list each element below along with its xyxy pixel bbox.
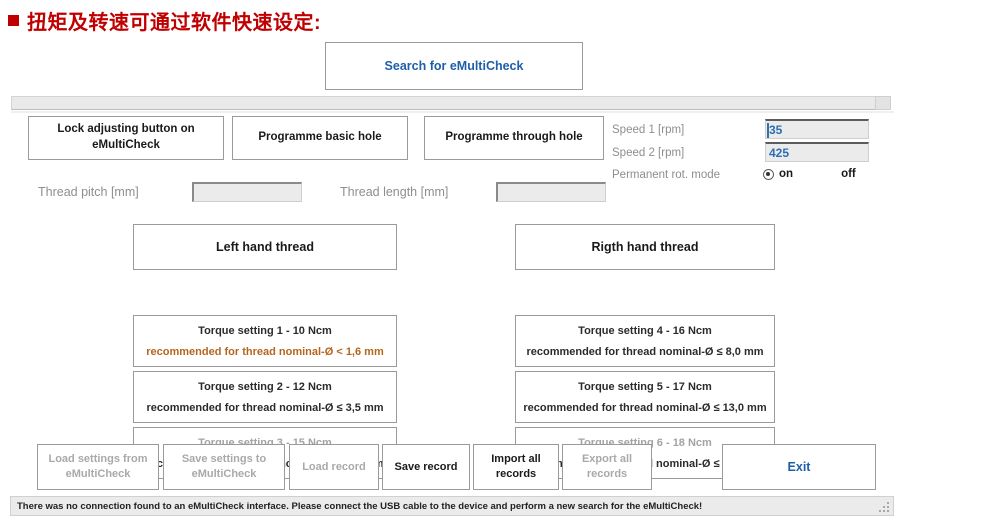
exit-button[interactable]: Exit — [722, 444, 876, 490]
programme-basic-hole-button[interactable]: Programme basic hole — [232, 116, 408, 160]
load-settings-from-emulticheck-button[interactable]: Load settings from eMultiCheck — [37, 444, 159, 490]
torque-setting-5-recommendation: recommended for thread nominal-Ø ≤ 13,0 … — [523, 402, 766, 414]
torque-setting-5-title: Torque setting 5 - 17 Ncm — [578, 381, 712, 393]
speed-1-value: 35 — [769, 123, 782, 137]
status-message: There was no connection found to an eMul… — [17, 501, 702, 512]
programme-through-hole-label: Programme through hole — [445, 130, 582, 146]
rot-mode-on-label: on — [779, 168, 793, 180]
screenshot-root: 扭矩及转速可通过软件快速设定: Search for eMultiCheck L… — [0, 0, 1000, 529]
torque-setting-1[interactable]: Torque setting 1 - 10 Ncm recommended fo… — [133, 315, 397, 367]
programme-through-hole-button[interactable]: Programme through hole — [424, 116, 604, 160]
torque-setting-2[interactable]: Torque setting 2 - 12 Ncm recommended fo… — [133, 371, 397, 423]
speed-2-label: Speed 2 [rpm] — [612, 147, 684, 159]
torque-setting-4-recommendation: recommended for thread nominal-Ø ≤ 8,0 m… — [526, 346, 763, 358]
export-all-records-button[interactable]: Export all records — [562, 444, 652, 490]
torque-setting-2-recommendation: recommended for thread nominal-Ø ≤ 3,5 m… — [146, 402, 383, 414]
torque-setting-4[interactable]: Torque setting 4 - 16 Ncm recommended fo… — [515, 315, 775, 367]
thread-pitch-label: Thread pitch [mm] — [38, 185, 139, 199]
right-hand-thread-label: Rigth hand thread — [592, 240, 699, 254]
load-settings-label: Load settings from eMultiCheck — [41, 452, 155, 482]
export-all-records-label: Export all records — [566, 452, 648, 482]
rot-mode-on-option[interactable]: on — [763, 168, 793, 180]
programme-basic-hole-label: Programme basic hole — [258, 130, 381, 146]
speed-2-input[interactable]: 425 — [765, 142, 869, 162]
thread-length-input[interactable] — [496, 182, 606, 202]
status-bar: There was no connection found to an eMul… — [10, 496, 894, 516]
permanent-rot-mode-label: Permanent rot. mode — [612, 169, 720, 181]
speed-1-input[interactable]: 35 — [765, 119, 869, 139]
speed-1-label: Speed 1 [rpm] — [612, 124, 684, 136]
import-all-records-label: Import all records — [477, 452, 555, 482]
rot-mode-off-label: off — [841, 168, 856, 180]
emulticheck-app-window: Search for eMultiCheck Lock adjusting bu… — [0, 36, 1000, 529]
scrollbar-thumb[interactable] — [875, 96, 891, 110]
load-record-button[interactable]: Load record — [289, 444, 379, 490]
permanent-rot-mode-radio-group[interactable]: on off — [763, 168, 856, 180]
left-hand-thread-button[interactable]: Left hand thread — [133, 224, 397, 270]
rot-mode-off-option[interactable]: off — [825, 168, 856, 180]
lock-adjusting-button-label: Lock adjusting button on eMultiCheck — [33, 122, 219, 153]
page-title-text: 扭矩及转速可通过软件快速设定: — [27, 6, 321, 35]
save-settings-to-emulticheck-button[interactable]: Save settings to eMultiCheck — [163, 444, 285, 490]
torque-setting-1-title: Torque setting 1 - 10 Ncm — [198, 325, 332, 337]
speed-2-value: 425 — [769, 146, 789, 160]
resize-grip-icon[interactable] — [879, 502, 889, 512]
save-settings-label: Save settings to eMultiCheck — [167, 452, 281, 482]
strip-shadow — [11, 111, 894, 113]
page-title: 扭矩及转速可通过软件快速设定: — [8, 6, 321, 35]
thread-length-label: Thread length [mm] — [340, 185, 448, 199]
radio-off-icon[interactable] — [825, 169, 836, 180]
torque-setting-1-recommendation: recommended for thread nominal-Ø < 1,6 m… — [146, 346, 383, 358]
torque-setting-5[interactable]: Torque setting 5 - 17 Ncm recommended fo… — [515, 371, 775, 423]
search-for-emulticheck-button[interactable]: Search for eMultiCheck — [325, 42, 583, 90]
square-bullet-icon — [8, 15, 19, 26]
horizontal-scrollbar[interactable] — [11, 96, 891, 110]
text-caret — [767, 123, 769, 138]
import-all-records-button[interactable]: Import all records — [473, 444, 559, 490]
save-record-button[interactable]: Save record — [382, 444, 470, 490]
radio-on-icon[interactable] — [763, 169, 774, 180]
torque-setting-2-title: Torque setting 2 - 12 Ncm — [198, 381, 332, 393]
thread-pitch-input[interactable] — [192, 182, 302, 202]
left-hand-thread-label: Left hand thread — [216, 240, 314, 254]
right-hand-thread-button[interactable]: Rigth hand thread — [515, 224, 775, 270]
search-button-label: Search for eMultiCheck — [385, 59, 524, 73]
save-record-label: Save record — [395, 460, 458, 475]
load-record-label: Load record — [302, 460, 366, 475]
torque-setting-4-title: Torque setting 4 - 16 Ncm — [578, 325, 712, 337]
exit-button-label: Exit — [788, 459, 811, 476]
lock-adjusting-button[interactable]: Lock adjusting button on eMultiCheck — [28, 116, 224, 160]
